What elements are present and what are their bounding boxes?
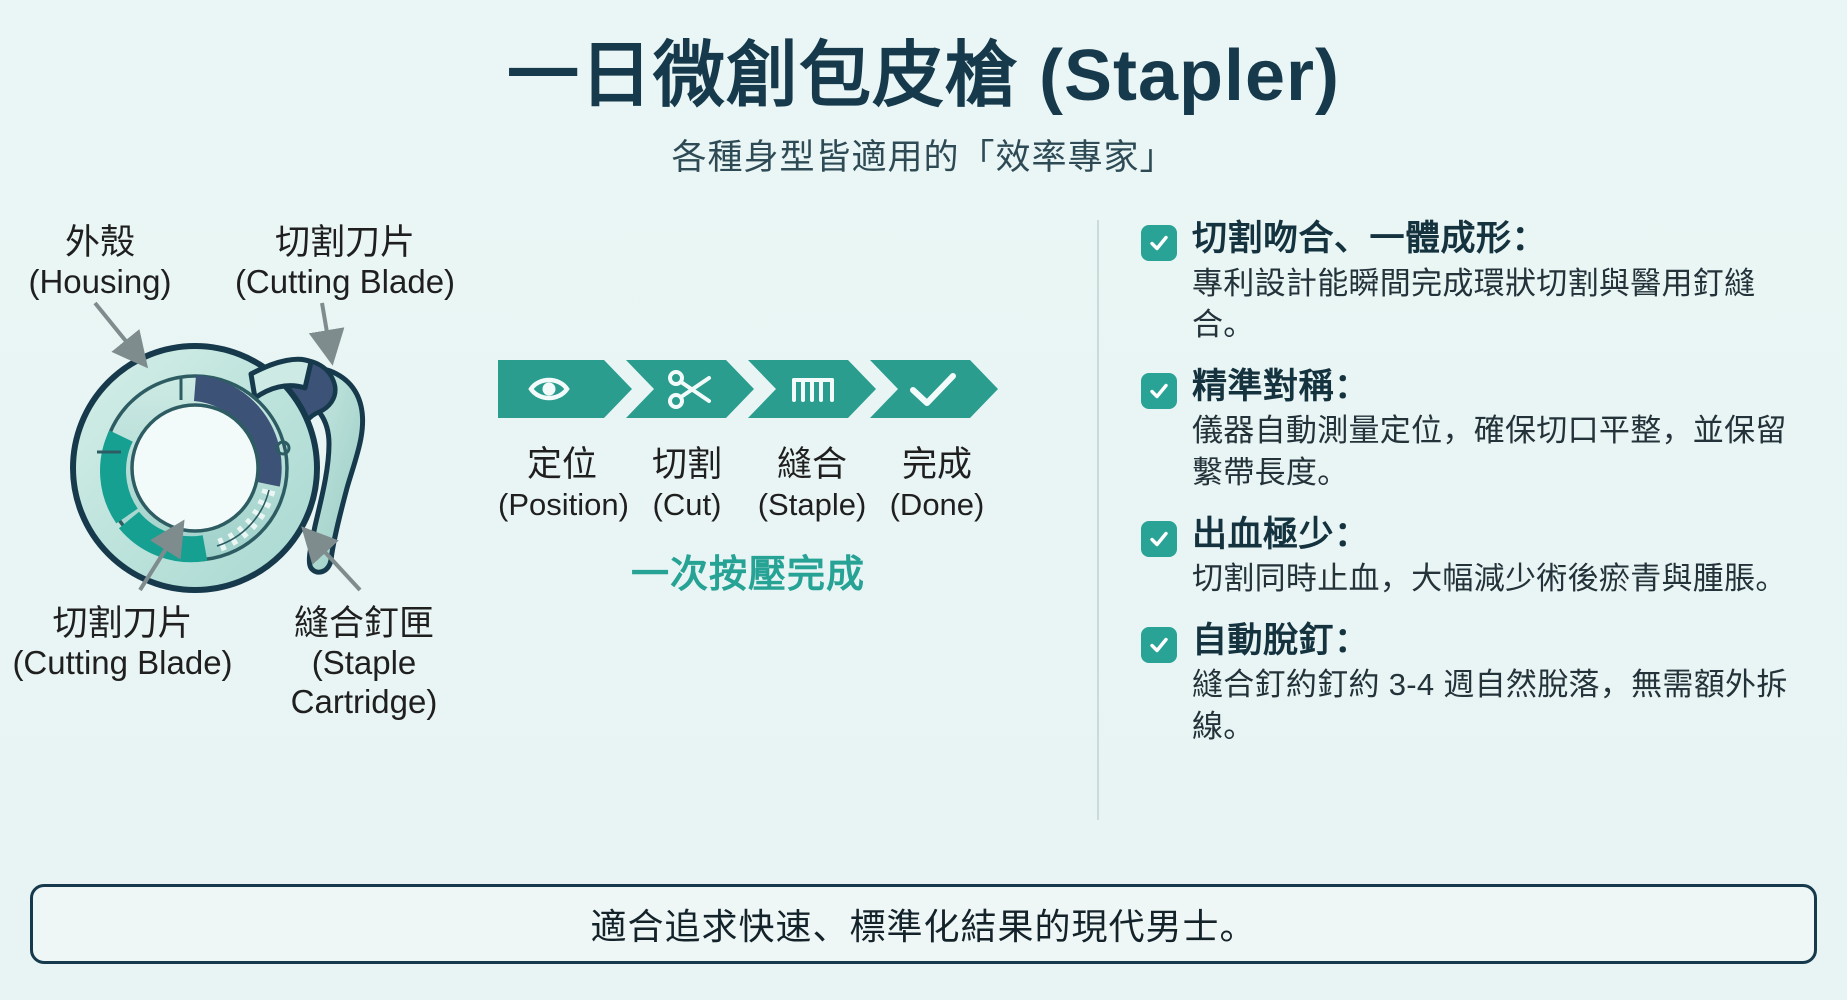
infographic-page: 一日微創包皮槍 (Stapler) 各種身型皆適用的「效率專家」 bbox=[0, 0, 1847, 1000]
checkmark-icon bbox=[1141, 627, 1177, 663]
label-cutting-blade-top: 切割刀片 (Cutting Blade) bbox=[230, 222, 460, 302]
label-housing-zh: 外殼 bbox=[10, 222, 190, 263]
feature-text: 精準對稱： 儀器自動測量定位，確保切口平整，並保留繫帶長度。 bbox=[1192, 366, 1807, 494]
step-done-zh: 完成 bbox=[876, 444, 998, 486]
label-cutting-blade-top-en: (Cutting Blade) bbox=[230, 263, 460, 302]
stapler-device-illustration bbox=[55, 328, 415, 608]
footer-text: 適合追求快速、標準化結果的現代男士。 bbox=[590, 898, 1256, 950]
checkmark-icon bbox=[1141, 521, 1177, 557]
check-glyph bbox=[1148, 528, 1170, 550]
feature-text: 出血極少： 切割同時止血，大幅減少術後瘀青與腫脹。 bbox=[1192, 514, 1807, 600]
diagram-column: 外殼 (Housing) 切割刀片 (Cutting Blade) 切割刀片 (… bbox=[0, 208, 1097, 838]
process-flow: 定位 (Position) 切割 (Cut) 縫合 (Staple) 完成 (D… bbox=[498, 356, 998, 598]
check-glyph bbox=[1148, 380, 1170, 402]
label-cutting-blade-bottom-zh: 切割刀片 bbox=[10, 603, 235, 644]
label-staple-cartridge-en: (Staple Cartridge) bbox=[240, 644, 488, 722]
process-step-labels: 定位 (Position) 切割 (Cut) 縫合 (Staple) 完成 (D… bbox=[498, 444, 998, 523]
device-aperture bbox=[132, 405, 258, 531]
step-cut-zh: 切割 bbox=[626, 444, 748, 486]
feature-item: 切割吻合、一體成形： 專利設計能瞬間完成環狀切割與醫用釘縫合。 bbox=[1141, 218, 1807, 346]
feature-text: 切割吻合、一體成形： 專利設計能瞬間完成環狀切割與醫用釘縫合。 bbox=[1192, 218, 1807, 346]
process-chevron-row bbox=[498, 356, 998, 428]
step-staple-en: (Staple) bbox=[748, 486, 876, 523]
chevron-step-4 bbox=[870, 360, 998, 418]
label-cutting-blade-bottom-en: (Cutting Blade) bbox=[10, 644, 235, 683]
feature-desc: 儀器自動測量定位，確保切口平整，並保留繫帶長度。 bbox=[1192, 410, 1807, 493]
content-body: 外殼 (Housing) 切割刀片 (Cutting Blade) 切割刀片 (… bbox=[0, 208, 1847, 838]
feature-title: 精準對稱： bbox=[1192, 366, 1807, 409]
page-subtitle: 各種身型皆適用的「效率專家」 bbox=[0, 129, 1847, 180]
check-glyph bbox=[1148, 232, 1170, 254]
label-staple-cartridge-zh: 縫合釘匣 bbox=[240, 603, 488, 644]
page-title: 一日微創包皮槍 (Stapler) bbox=[0, 36, 1847, 117]
feature-item: 出血極少： 切割同時止血，大幅減少術後瘀青與腫脹。 bbox=[1141, 514, 1807, 600]
label-housing-en: (Housing) bbox=[10, 263, 190, 302]
feature-text: 自動脫釘： 縫合釘約釘約 3-4 週自然脫落，無需額外拆線。 bbox=[1192, 620, 1807, 748]
step-cut-en: (Cut) bbox=[626, 486, 748, 523]
feature-item: 自動脫釘： 縫合釘約釘約 3-4 週自然脫落，無需額外拆線。 bbox=[1141, 620, 1807, 748]
checkmark-icon bbox=[1141, 225, 1177, 261]
process-step-done: 完成 (Done) bbox=[876, 444, 998, 523]
feature-desc: 縫合釘約釘約 3-4 週自然脫落，無需額外拆線。 bbox=[1192, 664, 1807, 747]
label-cutting-blade-top-zh: 切割刀片 bbox=[230, 222, 460, 263]
step-position-zh: 定位 bbox=[498, 444, 626, 486]
check-glyph bbox=[1148, 634, 1170, 656]
device-staple-cartridge-arc bbox=[113, 436, 127, 516]
label-staple-cartridge: 縫合釘匣 (Staple Cartridge) bbox=[240, 603, 488, 722]
step-staple-zh: 縫合 bbox=[748, 444, 876, 486]
process-step-cut: 切割 (Cut) bbox=[626, 444, 748, 523]
feature-title: 切割吻合、一體成形： bbox=[1192, 218, 1807, 261]
checkmark-icon bbox=[1141, 373, 1177, 409]
step-position-en: (Position) bbox=[498, 486, 626, 523]
label-housing: 外殼 (Housing) bbox=[10, 222, 190, 302]
feature-item: 精準對稱： 儀器自動測量定位，確保切口平整，並保留繫帶長度。 bbox=[1141, 366, 1807, 494]
feature-desc: 專利設計能瞬間完成環狀切割與醫用釘縫合。 bbox=[1192, 263, 1807, 346]
label-cutting-blade-bottom: 切割刀片 (Cutting Blade) bbox=[10, 603, 235, 683]
process-step-staple: 縫合 (Staple) bbox=[748, 444, 876, 523]
feature-title: 出血極少： bbox=[1192, 514, 1807, 557]
feature-title: 自動脫釘： bbox=[1192, 620, 1807, 663]
process-flow-note: 一次按壓完成 bbox=[498, 543, 998, 598]
header: 一日微創包皮槍 (Stapler) 各種身型皆適用的「效率專家」 bbox=[0, 0, 1847, 180]
feature-desc: 切割同時止血，大幅減少術後瘀青與腫脹。 bbox=[1192, 558, 1807, 600]
process-step-position: 定位 (Position) bbox=[498, 444, 626, 523]
features-column: 切割吻合、一體成形： 專利設計能瞬間完成環狀切割與醫用釘縫合。 精準對稱： 儀器… bbox=[1097, 208, 1847, 838]
step-done-en: (Done) bbox=[876, 486, 998, 523]
footer-banner: 適合追求快速、標準化結果的現代男士。 bbox=[30, 884, 1817, 964]
chevron-strip bbox=[498, 356, 998, 422]
